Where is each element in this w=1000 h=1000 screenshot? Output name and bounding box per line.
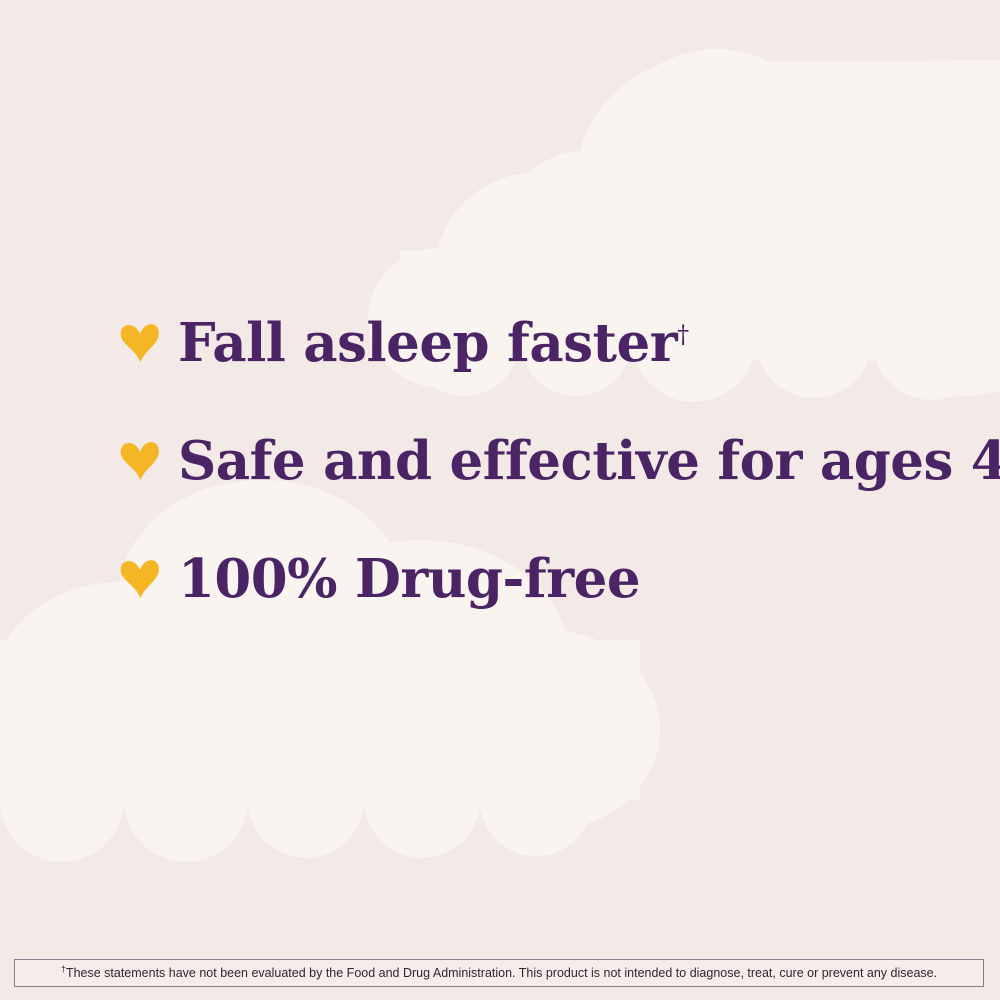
- benefit-label: Fall asleep faster†: [178, 317, 689, 370]
- heart-icon: [118, 321, 162, 365]
- dagger-superscript: †: [677, 320, 689, 348]
- benefit-label: 100% Drug-free: [178, 553, 640, 606]
- benefit-item: Fall asleep faster†: [118, 284, 978, 402]
- benefit-item: Safe and effective for ages 4+: [118, 402, 978, 520]
- promo-graphic: Fall asleep faster† Safe and effective f…: [0, 0, 1000, 1000]
- disclaimer-box: †These statements have not been evaluate…: [14, 959, 984, 987]
- benefit-label: Safe and effective for ages 4+: [178, 435, 1000, 488]
- benefit-list: Fall asleep faster† Safe and effective f…: [118, 284, 978, 638]
- heart-icon: [118, 439, 162, 483]
- disclaimer-text: †These statements have not been evaluate…: [61, 967, 937, 980]
- benefit-item: 100% Drug-free: [118, 520, 978, 638]
- heart-icon: [118, 557, 162, 601]
